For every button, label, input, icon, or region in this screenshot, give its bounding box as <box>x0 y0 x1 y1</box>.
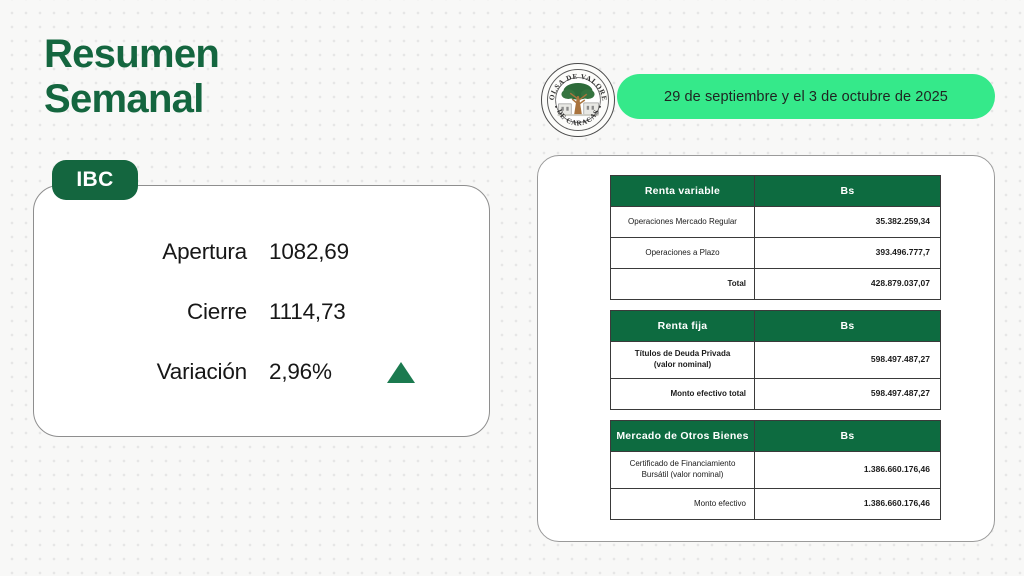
table-renta-fija: Renta fija Bs Títulos de Deuda Privada (… <box>610 310 941 410</box>
ibc-badge: IBC <box>52 160 138 200</box>
cell-concept: Monto efectivo total <box>611 379 755 410</box>
column-header-concept: Renta fija <box>611 311 755 342</box>
ibc-metrics-list: Apertura 1082,69 Cierre 1114,73 Variació… <box>33 222 490 402</box>
list-item: Cierre 1114,73 <box>33 282 490 342</box>
cell-concept: Certificado de Financiamiento Bursátil (… <box>611 452 755 489</box>
table-header-row: Renta variable Bs <box>611 176 941 207</box>
ibc-badge-label: IBC <box>76 168 113 192</box>
column-header-concept: Renta variable <box>611 176 755 207</box>
cell-concept: Total <box>611 269 755 300</box>
column-header-concept: Mercado de Otros Bienes <box>611 421 755 452</box>
page-title: Resumen Semanal <box>44 32 219 122</box>
cell-amount: 35.382.259,34 <box>755 207 941 238</box>
cell-amount: 1.386.660.176,46 <box>755 452 941 489</box>
cell-amount: 1.386.660.176,46 <box>755 489 941 520</box>
table-header-row: Mercado de Otros Bienes Bs <box>611 421 941 452</box>
cell-concept: Operaciones Mercado Regular <box>611 207 755 238</box>
table-row: Total 428.879.037,07 <box>611 269 941 300</box>
ibc-row-value: 1114,73 <box>269 299 387 325</box>
date-range-banner: 29 de septiembre y el 3 de octubre de 20… <box>617 74 995 119</box>
table-mercado-otros-bienes: Mercado de Otros Bienes Bs Certificado d… <box>610 420 941 520</box>
ibc-row-label: Variación <box>33 359 269 385</box>
ibc-row-value: 1082,69 <box>269 239 387 265</box>
table-header-row: Renta fija Bs <box>611 311 941 342</box>
cell-amount: 598.497.487,27 <box>755 379 941 410</box>
column-header-amount: Bs <box>755 311 941 342</box>
ibc-row-trend <box>387 362 433 383</box>
bolsa-de-valores-de-caracas-logo: BOLSA DE VALORES DE CARACAS <box>541 63 615 137</box>
cell-concept: Monto efectivo <box>611 489 755 520</box>
table-row: Monto efectivo total 598.497.487,27 <box>611 379 941 410</box>
table-row: Títulos de Deuda Privada (valor nominal)… <box>611 342 941 379</box>
table-renta-variable: Renta variable Bs Operaciones Mercado Re… <box>610 175 941 300</box>
column-header-amount: Bs <box>755 421 941 452</box>
table-row: Certificado de Financiamiento Bursátil (… <box>611 452 941 489</box>
date-range-label: 29 de septiembre y el 3 de octubre de 20… <box>664 89 948 105</box>
cell-amount: 428.879.037,07 <box>755 269 941 300</box>
list-item: Variación 2,96% <box>33 342 490 402</box>
cell-amount: 393.496.777,7 <box>755 238 941 269</box>
cell-concept: Títulos de Deuda Privada (valor nominal) <box>611 342 755 379</box>
column-header-amount: Bs <box>755 176 941 207</box>
cell-concept: Operaciones a Plazo <box>611 238 755 269</box>
table-row: Operaciones Mercado Regular 35.382.259,3… <box>611 207 941 238</box>
cell-amount: 598.497.487,27 <box>755 342 941 379</box>
tables-panel: Renta variable Bs Operaciones Mercado Re… <box>537 155 995 542</box>
trend-up-icon <box>387 362 415 383</box>
table-row: Monto efectivo 1.386.660.176,46 <box>611 489 941 520</box>
ibc-row-label: Cierre <box>33 299 269 325</box>
logo-emblem-icon: BOLSA DE VALORES DE CARACAS <box>542 64 614 136</box>
table-row: Operaciones a Plazo 393.496.777,7 <box>611 238 941 269</box>
ibc-row-label: Apertura <box>33 239 269 265</box>
list-item: Apertura 1082,69 <box>33 222 490 282</box>
ibc-row-value: 2,96% <box>269 359 387 385</box>
